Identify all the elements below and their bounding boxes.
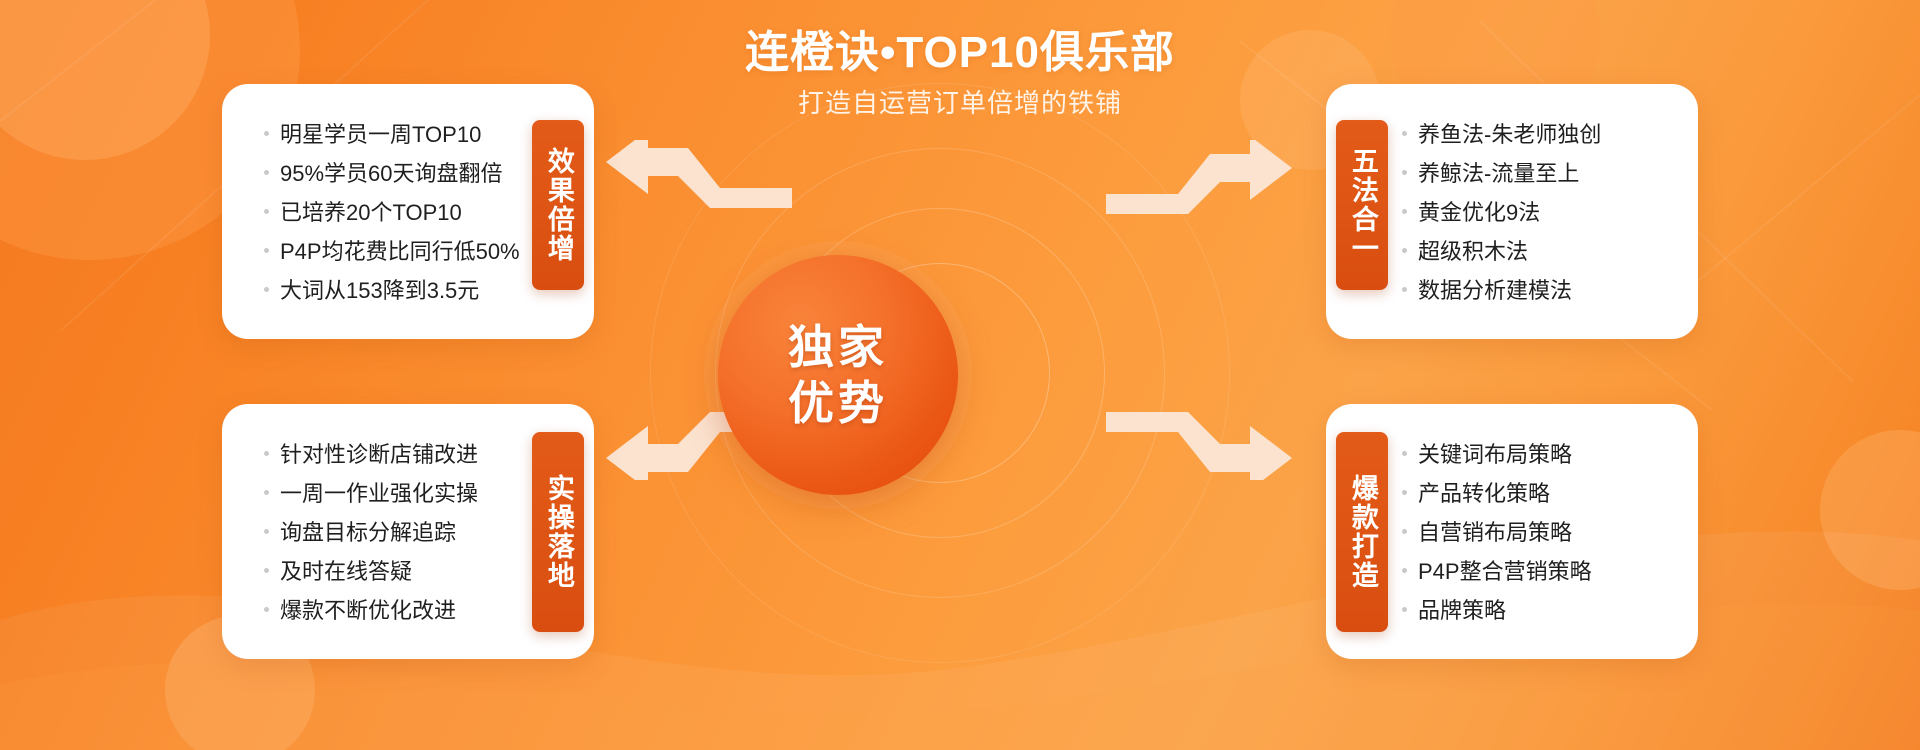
badge-top-right[interactable]: 五法合一 — [1336, 120, 1388, 290]
list-item: 大词从153降到3.5元 — [264, 280, 520, 302]
bullet-dot-icon — [1402, 131, 1407, 136]
bullet-dot-icon — [264, 490, 269, 495]
list-item-label: 产品转化策略 — [1418, 483, 1550, 505]
card-top-right-list: 养鱼法-朱老师独创 养鲸法-流量至上 黄金优化9法 超级积木法 数据分析建模法 — [1402, 124, 1601, 302]
list-item-label: 明星学员一周TOP10 — [280, 124, 481, 146]
list-item-label: 关键词布局策略 — [1418, 444, 1572, 466]
list-item: 爆款不断优化改进 — [264, 600, 478, 622]
bullet-dot-icon — [1402, 170, 1407, 175]
list-item-label: 一周一作业强化实操 — [280, 483, 478, 505]
bullet-dot-icon — [1402, 451, 1407, 456]
list-item-label: 及时在线答疑 — [280, 561, 412, 583]
page-title: 连橙诀•TOP10俱乐部 — [0, 28, 1920, 77]
list-item: 养鱼法-朱老师独创 — [1402, 124, 1601, 146]
bullet-dot-icon — [264, 451, 269, 456]
badge-bottom-right[interactable]: 爆款打造 — [1336, 432, 1388, 632]
badge-top-left[interactable]: 效果倍增 — [532, 120, 584, 290]
badge-top-left-label: 效果倍增 — [542, 147, 574, 263]
bullet-dot-icon — [1402, 209, 1407, 214]
bullet-dot-icon — [264, 131, 269, 136]
header: 连橙诀•TOP10俱乐部 打造自运营订单倍增的铁铺 — [0, 28, 1920, 120]
list-item: 95%学员60天询盘翻倍 — [264, 163, 520, 185]
list-item: 一周一作业强化实操 — [264, 483, 478, 505]
bullet-dot-icon — [1402, 287, 1407, 292]
bullet-dot-icon — [264, 170, 269, 175]
bullet-dot-icon — [1402, 248, 1407, 253]
list-item-label: P4P均花费比同行低50% — [280, 241, 520, 263]
list-item: 数据分析建模法 — [1402, 280, 1601, 302]
arrow-top-left-icon — [600, 140, 800, 220]
list-item: 养鲸法-流量至上 — [1402, 163, 1601, 185]
bullet-dot-icon — [1402, 568, 1407, 573]
badge-bottom-left-label: 实操落地 — [542, 474, 574, 590]
card-bottom-left-list: 针对性诊断店铺改进 一周一作业强化实操 询盘目标分解追踪 及时在线答疑 爆款不断… — [264, 444, 478, 622]
bullet-dot-icon — [1402, 607, 1407, 612]
list-item-label: 询盘目标分解追踪 — [280, 522, 456, 544]
badge-top-right-label: 五法合一 — [1346, 147, 1378, 263]
list-item: 品牌策略 — [1402, 600, 1592, 622]
list-item: 及时在线答疑 — [264, 561, 478, 583]
list-item-label: 养鱼法-朱老师独创 — [1418, 124, 1601, 146]
bullet-dot-icon — [264, 529, 269, 534]
bullet-dot-icon — [1402, 529, 1407, 534]
list-item: 关键词布局策略 — [1402, 444, 1592, 466]
list-item: 产品转化策略 — [1402, 483, 1592, 505]
list-item: 明星学员一周TOP10 — [264, 124, 520, 146]
badge-bottom-left[interactable]: 实操落地 — [532, 432, 584, 632]
arrow-top-right-icon — [1098, 140, 1298, 220]
bullet-dot-icon — [264, 568, 269, 573]
list-item-label: 爆款不断优化改进 — [280, 600, 456, 622]
bullet-dot-icon — [264, 248, 269, 253]
list-item: 自营销布局策略 — [1402, 522, 1592, 544]
list-item: 针对性诊断店铺改进 — [264, 444, 478, 466]
list-item-label: 超级积木法 — [1418, 241, 1528, 263]
list-item-label: 数据分析建模法 — [1418, 280, 1572, 302]
list-item: 超级积木法 — [1402, 241, 1601, 263]
arrow-bottom-right-icon — [1098, 400, 1298, 480]
list-item: P4P均花费比同行低50% — [264, 241, 520, 263]
list-item-label: 95%学员60天询盘翻倍 — [280, 163, 503, 185]
list-item: 已培养20个TOP10 — [264, 202, 520, 224]
list-item-label: 品牌策略 — [1418, 600, 1506, 622]
list-item: 询盘目标分解追踪 — [264, 522, 478, 544]
bullet-dot-icon — [264, 607, 269, 612]
page-subtitle: 打造自运营订单倍增的铁铺 — [0, 83, 1920, 120]
list-item: P4P整合营销策略 — [1402, 561, 1592, 583]
bullet-dot-icon — [1402, 490, 1407, 495]
list-item-label: 大词从153降到3.5元 — [280, 280, 479, 302]
list-item: 黄金优化9法 — [1402, 202, 1601, 224]
card-bottom-right-list: 关键词布局策略 产品转化策略 自营销布局策略 P4P整合营销策略 品牌策略 — [1402, 444, 1592, 622]
list-item-label: 已培养20个TOP10 — [280, 202, 462, 224]
bullet-dot-icon — [264, 287, 269, 292]
list-item-label: 自营销布局策略 — [1418, 522, 1572, 544]
center-line-1: 独家 — [788, 319, 888, 375]
center-line-2: 优势 — [788, 375, 888, 431]
list-item-label: 养鲸法-流量至上 — [1418, 163, 1579, 185]
center-highlight: 独家 优势 — [718, 255, 958, 495]
center-circle: 独家 优势 — [718, 255, 958, 495]
list-item-label: P4P整合营销策略 — [1418, 561, 1592, 583]
badge-bottom-right-label: 爆款打造 — [1346, 474, 1378, 590]
list-item-label: 黄金优化9法 — [1418, 202, 1540, 224]
card-top-left-list: 明星学员一周TOP10 95%学员60天询盘翻倍 已培养20个TOP10 P4P… — [264, 124, 520, 302]
decorative-blob — [1820, 430, 1920, 590]
bullet-dot-icon — [264, 209, 269, 214]
list-item-label: 针对性诊断店铺改进 — [280, 444, 478, 466]
